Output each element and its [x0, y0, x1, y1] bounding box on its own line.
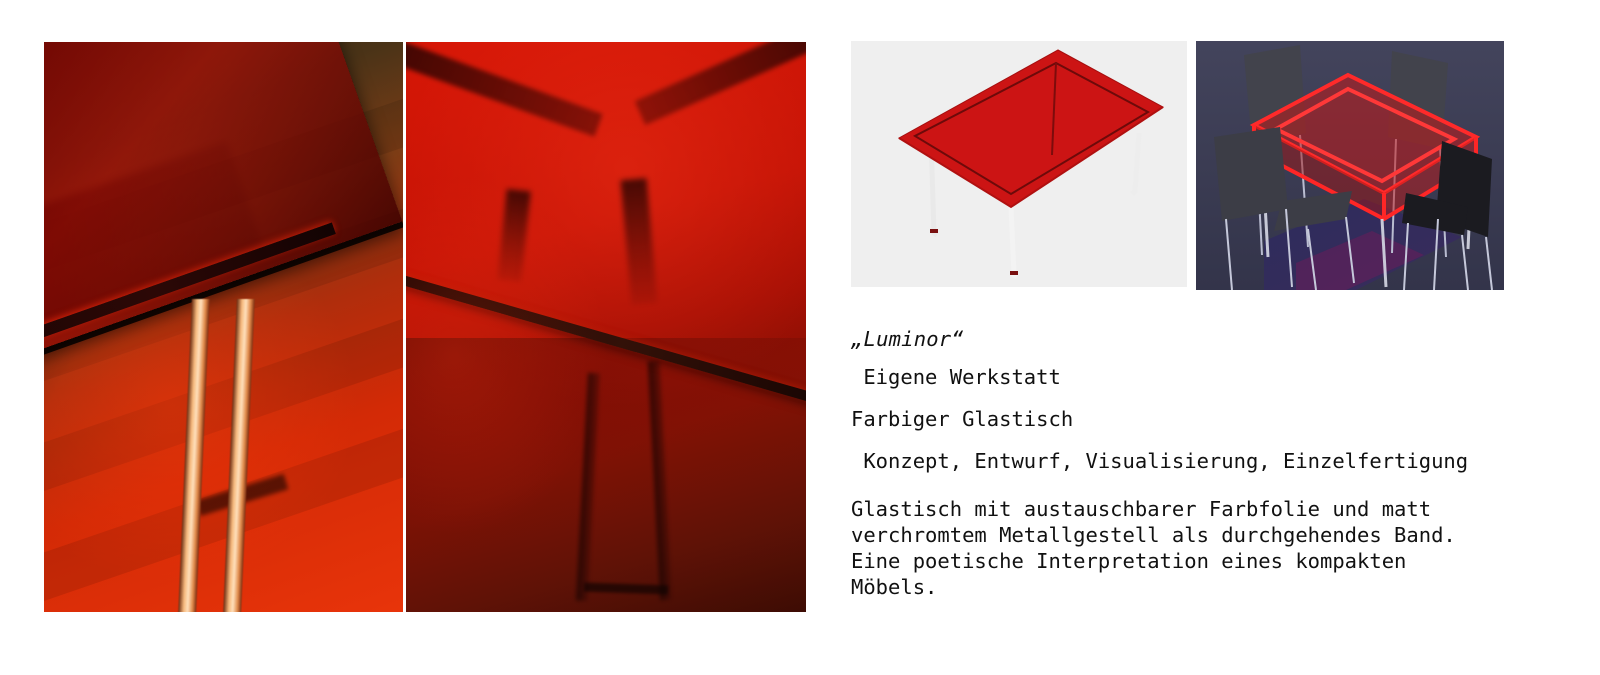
render-cad-table-light[interactable] — [851, 41, 1187, 287]
project-category: Farbiger Glastisch — [851, 398, 1551, 440]
photo-red-glass-tabletop-closeup[interactable] — [406, 42, 806, 612]
photo-red-glass-table-corner[interactable] — [44, 42, 403, 612]
project-title: „Luminor“ — [851, 322, 1551, 356]
red-light-glow — [406, 42, 806, 612]
project-services: Konzept, Entwurf, Visualisierung, Einzel… — [851, 440, 1551, 482]
cad-scene-svg — [1196, 41, 1504, 290]
project-caption: „Luminor“ Eigene Werkstatt Farbiger Glas… — [851, 322, 1551, 600]
project-description: Glastisch mit austauschbarer Farbfolie u… — [851, 496, 1551, 600]
page-root: „Luminor“ Eigene Werkstatt Farbiger Glas… — [0, 0, 1600, 675]
render-cad-table-with-chairs-dark[interactable] — [1196, 41, 1504, 290]
project-client: Eigene Werkstatt — [851, 356, 1551, 398]
cad-table-svg — [851, 41, 1187, 287]
